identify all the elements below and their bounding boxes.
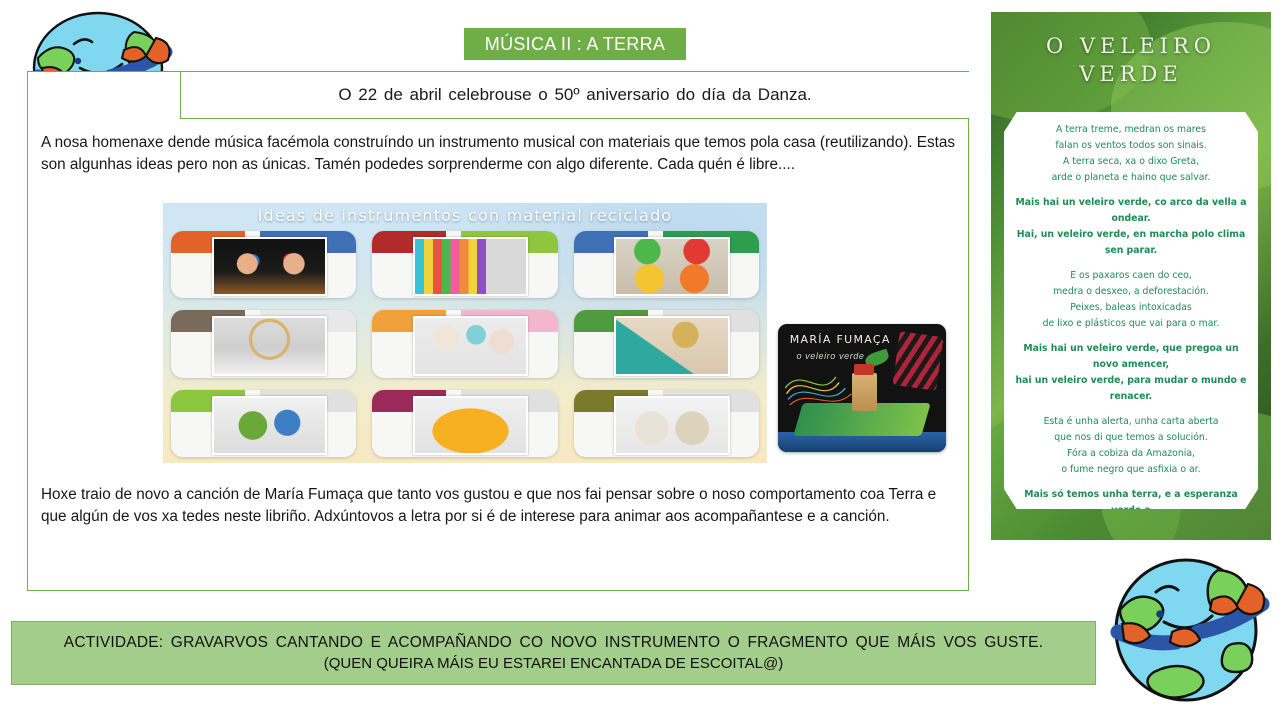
album-title: MARÍA FUMAÇA	[790, 333, 891, 346]
closing-paragraph: Hoxe traio de novo a canción de María Fu…	[41, 484, 963, 528]
album-subtitle: o veleiro verde	[796, 351, 864, 361]
page-title: MÚSICA II : A TERRA	[464, 28, 686, 60]
instrument-card	[372, 310, 557, 377]
lyrics-title-line-1: O VELEIRO	[991, 32, 1271, 60]
poster-title: Ideas de instrumentos con material recic…	[163, 206, 767, 225]
instrument-card	[574, 390, 759, 457]
hoop-jingles-photo	[212, 316, 327, 375]
instrument-card	[171, 310, 356, 377]
intro-paragraph: A nosa homenaxe dende música facémola co…	[41, 132, 961, 176]
album-stripes	[892, 331, 943, 390]
activity-line-2: (QUEN QUEIRA MÁIS EU ESTAREI ENCANTADA D…	[324, 655, 783, 672]
poster-cell	[364, 225, 565, 304]
bottle-maracas-photo	[614, 237, 729, 296]
instrument-card	[171, 231, 356, 298]
lyric-line: Fóra a cobiza da Amazonia,	[1012, 446, 1250, 462]
lyric-line: de lixo e plásticos que vai para o mar.	[1012, 316, 1250, 332]
lyrics-poster-title: O VELEIRO VERDE	[991, 32, 1271, 89]
activity-line-1: ACTIVIDADE: GRAVARVOS CANTANDO E ACOMPAÑ…	[64, 634, 1043, 652]
tin-drums-photo	[212, 396, 327, 455]
lyric-line: Esta é unha alerta, unha carta aberta	[1012, 414, 1250, 430]
earth-hug-icon	[1102, 546, 1278, 718]
lyrics-card: A terra treme, medran os maresfalan os v…	[1004, 112, 1258, 509]
lyric-line: falan os ventos todos son sinais.	[1012, 138, 1250, 154]
lyric-line: Peixes, baleas intoxicadas	[1012, 300, 1250, 316]
recycled-instruments-poster: Ideas de instrumentos con material recic…	[163, 203, 767, 463]
lyric-stanza-gap	[1012, 332, 1250, 341]
instrument-card	[372, 390, 557, 457]
lyric-line: E os paxaros caen do ceo,	[1012, 268, 1250, 284]
coloured-tubes-xylophone-photo	[413, 237, 528, 296]
poster-cell	[163, 304, 364, 383]
poster-cell	[364, 384, 565, 463]
instrument-card	[574, 231, 759, 298]
poster-cell	[566, 384, 767, 463]
lyric-line: que nos di que temos a solución.	[1012, 430, 1250, 446]
paper-tambourine-sticks-photo	[413, 316, 528, 375]
poster-cell	[566, 304, 767, 383]
poster-cell	[163, 225, 364, 304]
lyric-stanza-gap	[1012, 405, 1250, 414]
lyric-line: o fume negro que asfixia o ar.	[1012, 462, 1250, 478]
plate-tambourine-photo	[413, 396, 528, 455]
instrument-card	[372, 231, 557, 298]
poster-cell	[566, 225, 767, 304]
lyric-line: medra o desxeo, a deforestación.	[1012, 284, 1250, 300]
can-castanets-photo	[212, 237, 327, 296]
instrument-card	[574, 310, 759, 377]
lyric-line: hai un veleiro verde, para mudar o mundo…	[1012, 373, 1250, 405]
subtitle-band: O 22 de abril celebrouse o 50º aniversar…	[180, 72, 969, 119]
lyrics-title-line-2: VERDE	[991, 60, 1271, 88]
instrument-card	[171, 390, 356, 457]
lyric-stanza-gap	[1012, 186, 1250, 195]
lyric-stanza-gap	[1012, 259, 1250, 268]
lyric-stanza-gap	[1012, 478, 1250, 487]
lyric-line: Mais hai un veleiro verde, co arco da ve…	[1012, 195, 1250, 227]
poster-cell	[163, 384, 364, 463]
maria-fumaca-album-cover: MARÍA FUMAÇA o veleiro verde	[778, 324, 946, 452]
subtitle-text: O 22 de abril celebrouse o 50º aniversar…	[338, 85, 811, 105]
activity-banner: ACTIVIDADE: GRAVARVOS CANTANDO E ACOMPAÑ…	[11, 621, 1096, 685]
album-chimney-top	[854, 364, 874, 376]
bottle-cap-clappers-photo	[614, 316, 729, 375]
lyric-line: A terra treme, medran os mares	[1012, 122, 1250, 138]
album-chimney	[852, 373, 877, 411]
poster-grid	[163, 225, 767, 463]
poster-cell	[364, 304, 565, 383]
page-title-text: MÚSICA II : A TERRA	[485, 34, 665, 55]
slide-root: MÚSICA II : A TERRA O 22 de abril celebr…	[0, 0, 1280, 720]
lyric-line: arde o planeta e haino que salvar.	[1012, 170, 1250, 186]
lyric-line: Mais hai un veleiro verde, que pregoa un…	[1012, 341, 1250, 373]
lyric-line: A terra seca, xa o dixo Greta,	[1012, 154, 1250, 170]
lyric-line: Hai, un veleiro verde, en marcha polo cl…	[1012, 227, 1250, 259]
lid-cymbals-photo	[614, 396, 729, 455]
lyrics-poster: O VELEIRO VERDE A terra treme, medran os…	[991, 12, 1271, 540]
